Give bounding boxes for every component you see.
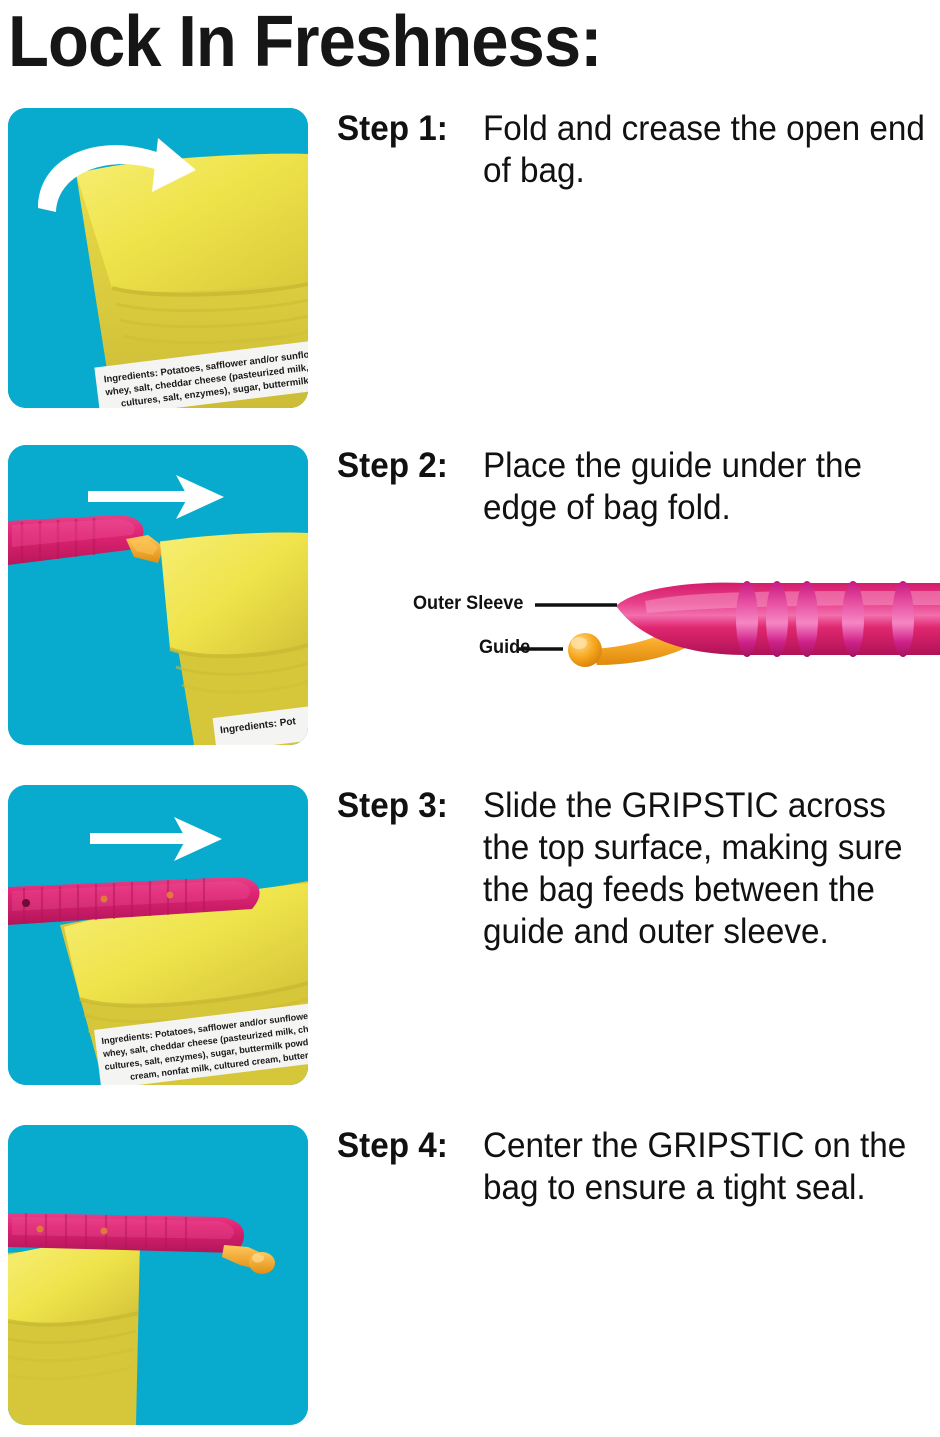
centered-gripstic-illustration — [8, 1125, 308, 1425]
guide-under-fold-illustration: Ingredients: Pot — [8, 445, 308, 745]
page-title: Lock In Freshness: — [8, 2, 602, 82]
outer-sleeve-label: Outer Sleeve — [413, 593, 523, 615]
step-1-body: Fold and crease the open end of bag. — [483, 108, 930, 192]
slide-gripstic-illustration: Ingredients: Potatoes, safflower and/or … — [8, 785, 308, 1085]
step-3-body: Slide the GRIPSTIC across the top surfac… — [483, 785, 930, 953]
gripstic-diagram-svg — [395, 565, 940, 680]
step-4-illustration-panel — [8, 1125, 308, 1425]
step-2-illustration-panel: Ingredients: Pot — [8, 445, 308, 745]
step-2-body: Place the guide under the edge of bag fo… — [483, 445, 930, 529]
guide-label: Guide — [479, 637, 530, 659]
step-4-label: Step 4: — [337, 1125, 448, 1167]
step-3-illustration-panel: Ingredients: Potatoes, safflower and/or … — [8, 785, 308, 1085]
step-2-label: Step 2: — [337, 445, 448, 487]
guide-ball-tip — [568, 633, 602, 667]
step-1-illustration-panel: Ingredients: Potatoes, safflower and/or … — [8, 108, 308, 408]
bag-fold-illustration: Ingredients: Potatoes, safflower and/or … — [8, 108, 308, 408]
step-1-label: Step 1: — [337, 108, 448, 150]
step-3-label: Step 3: — [337, 785, 448, 827]
step-4-body: Center the GRIPSTIC on the bag to ensure… — [483, 1125, 930, 1209]
gripstic-product-diagram: Outer Sleeve Guide — [395, 565, 940, 680]
